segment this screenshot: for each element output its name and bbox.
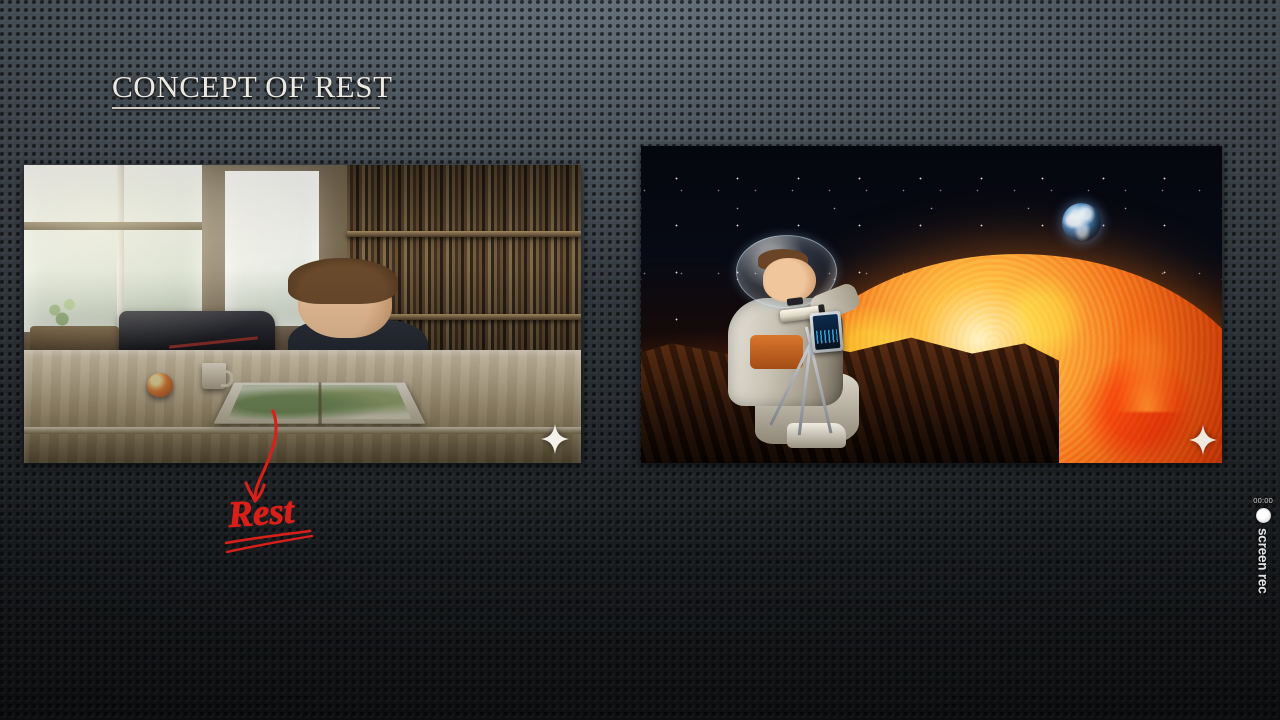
arrow-head-left <box>246 483 255 501</box>
slide-canvas: CONCEPT OF REST <box>0 0 1280 720</box>
screenrec-watermark: 00:00 screen rec <box>1253 496 1273 594</box>
earth-planet <box>1062 203 1101 242</box>
annotation-underline-2 <box>227 536 312 552</box>
solar-flare <box>1107 292 1187 412</box>
window-light-glow <box>24 165 581 463</box>
title-block: CONCEPT OF REST <box>112 70 393 109</box>
page-title: CONCEPT OF REST <box>112 70 393 104</box>
astronaut-figure <box>728 235 862 444</box>
tablet-device <box>809 311 843 353</box>
title-underline <box>112 107 380 109</box>
annotation-underline-1 <box>226 531 310 543</box>
astronaut-face <box>763 258 816 302</box>
astronaut-telescope-photo[interactable] <box>641 146 1222 463</box>
record-dot-icon[interactable] <box>1256 508 1271 523</box>
tablet-screen <box>812 314 841 351</box>
screenrec-brand-label: screen rec <box>1256 528 1271 594</box>
room-interior <box>24 165 581 463</box>
annotation-text: Rest <box>226 490 297 536</box>
recording-timer: 00:00 <box>1253 496 1273 505</box>
boy-reading-photo[interactable] <box>24 165 581 463</box>
arrow-head-right <box>255 485 264 501</box>
space-scene <box>641 146 1222 463</box>
